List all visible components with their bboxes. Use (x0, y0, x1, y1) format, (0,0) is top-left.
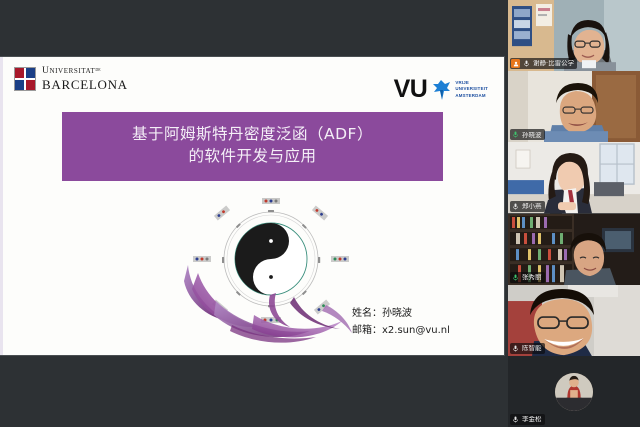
host-badge-icon (511, 59, 520, 68)
universitat-de-barcelona-logo: Universitatde BARCELONA (14, 67, 128, 91)
vrije-universiteit-amsterdam-logo: VU VRIJE UNIVERSITEIT AMSTERDAM (394, 77, 488, 102)
participant-namebar-6: 李金松 (510, 414, 545, 425)
vu-text-line2: UNIVERSITEIT (455, 86, 488, 92)
slide-title-line-2: 的软件开发与应用 (68, 145, 437, 167)
participant-name-4: 张秀丽 (522, 274, 542, 281)
participant-tile-1[interactable]: 谢静·比雷公学 (508, 0, 640, 71)
presentation-slide[interactable]: Universitatde BARCELONA VU VRIJE UNIVERS… (0, 57, 504, 355)
video-conference-window: Universitatde BARCELONA VU VRIJE UNIVERS… (0, 0, 640, 427)
participant-name-5: 陈智能 (522, 345, 542, 352)
vu-mark-text: VU (394, 77, 428, 102)
slide-left-accent (0, 57, 3, 355)
ub-logo-line2: BARCELONA (42, 78, 128, 91)
participant-name-6: 李金松 (522, 416, 542, 423)
ub-logo-de: de (95, 67, 100, 73)
slide-title-line-1: 基于阿姆斯特丹密度泛函（ADF） (68, 123, 437, 145)
mic-unmuted-icon (511, 130, 520, 139)
yin-yang-molecules-diagram (176, 197, 366, 355)
avatar (555, 373, 593, 411)
participant-tile-6[interactable]: 李金松 (508, 356, 640, 427)
vu-text-line3: AMSTERDAM (455, 93, 488, 99)
slide-title-band: 基于阿姆斯特丹密度泛函（ADF） 的软件开发与应用 (62, 112, 443, 181)
participant-namebar-2: 孙晓波 (510, 129, 545, 140)
shared-screen-stage[interactable]: Universitatde BARCELONA VU VRIJE UNIVERS… (0, 0, 508, 427)
participant-name-3: 郑小燕 (522, 203, 542, 210)
participant-tile-4[interactable]: 张秀丽 (508, 214, 640, 285)
ub-logo-line1: Universitat (42, 66, 95, 76)
participant-namebar-3: 郑小燕 (510, 201, 545, 212)
participant-namebar-1: 谢静·比雷公学 (510, 58, 577, 69)
participant-filmstrip[interactable]: 谢静·比雷公学 (508, 0, 640, 427)
participant-tile-3[interactable]: 郑小燕 (508, 142, 640, 213)
mouse-cursor (402, 315, 404, 317)
presenter-info: 姓名：孙晓波 邮箱：x2.sun@vu.nl (352, 306, 450, 339)
mic-muted-icon (511, 415, 520, 424)
mic-unmuted-icon (511, 273, 520, 282)
vu-griffin-icon (431, 79, 451, 101)
participant-namebar-5: 陈智能 (510, 343, 545, 354)
presenter-name: 姓名：孙晓波 (352, 306, 450, 323)
barcelona-crest-icon (14, 67, 36, 91)
mic-muted-icon (511, 202, 520, 211)
participant-tile-2[interactable]: 孙晓波 (508, 71, 640, 142)
mic-muted-icon (522, 59, 531, 68)
participant-tile-5[interactable]: 陈智能 (508, 285, 640, 356)
mic-muted-icon (511, 344, 520, 353)
participant-namebar-4: 张秀丽 (510, 272, 545, 283)
presenter-email: 邮箱：x2.sun@vu.nl (352, 323, 450, 340)
participant-name-2: 孙晓波 (522, 132, 542, 139)
participant-name-1: 谢静·比雷公学 (533, 60, 574, 67)
